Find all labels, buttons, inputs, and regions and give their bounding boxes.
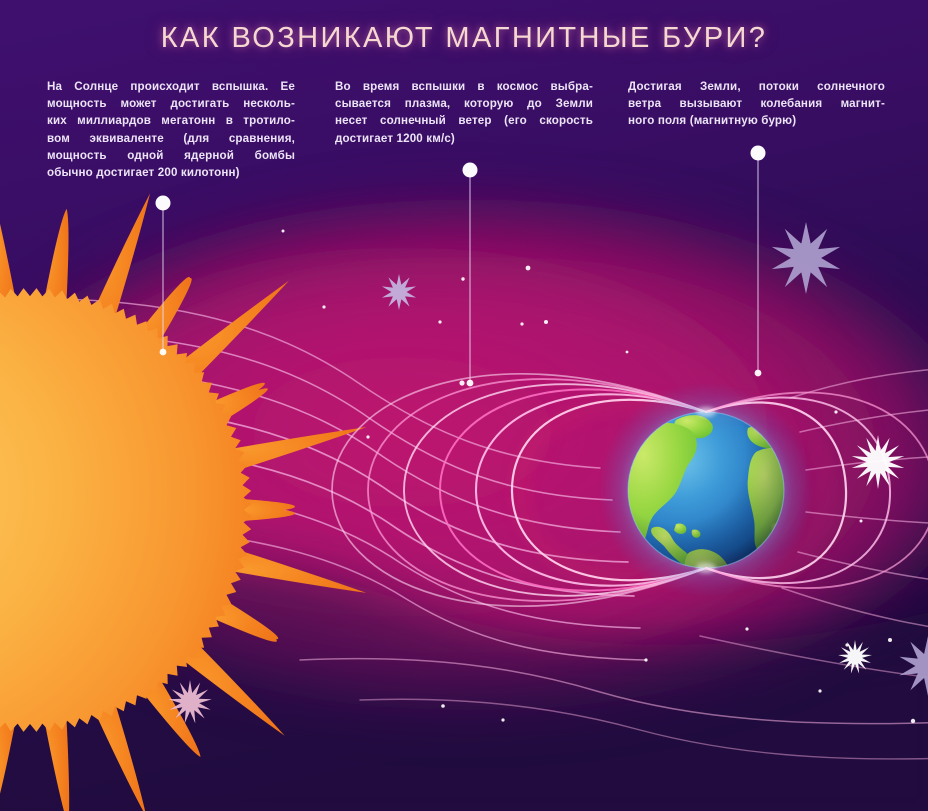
callout-line: Достигая Земли, потоки солнечного — [628, 78, 885, 95]
infographic-canvas: КАК ВОЗНИКАЮТ МАГНИТНЫЕ БУРИ? На Солнце … — [0, 0, 928, 811]
callout-line: ного поля (магнитную бурю) — [628, 112, 885, 129]
callout-line: Во время вспышки в космос выбра- — [335, 78, 593, 95]
callout-line: На Солнце происходит вспышка. Ее — [47, 78, 295, 95]
callout-text-magnetic-storm: Достигая Земли, потоки солнечного ветра … — [628, 78, 885, 130]
callout-line: ких миллиардов мегатонн в тротило- — [47, 112, 295, 129]
callout-line: достигает 1200 км/с) — [335, 130, 593, 147]
callout-text-sun-flare: На Солнце происходит вспышка. Ее мощност… — [47, 78, 295, 181]
callout-line: мощность одной ядерной бомбы — [47, 147, 295, 164]
callout-text-plasma-ejection: Во время вспышки в космос выбра- сываетс… — [335, 78, 593, 147]
callout-line: ветра вызывают колебания магнит- — [628, 95, 885, 112]
callout-line: мощность может достигать несколь- — [47, 95, 295, 112]
page-title: КАК ВОЗНИКАЮТ МАГНИТНЫЕ БУРИ? — [0, 22, 928, 55]
callout-line: вом эквиваленте (для сравнения, — [47, 130, 295, 147]
callout-line: обычно достигает 200 килотонн) — [47, 164, 295, 181]
earth-terminator-shading — [628, 412, 784, 568]
callout-line: несет солнечный ветер (его скорость — [335, 112, 593, 129]
callout-line: сывается плазма, которую до Земли — [335, 95, 593, 112]
